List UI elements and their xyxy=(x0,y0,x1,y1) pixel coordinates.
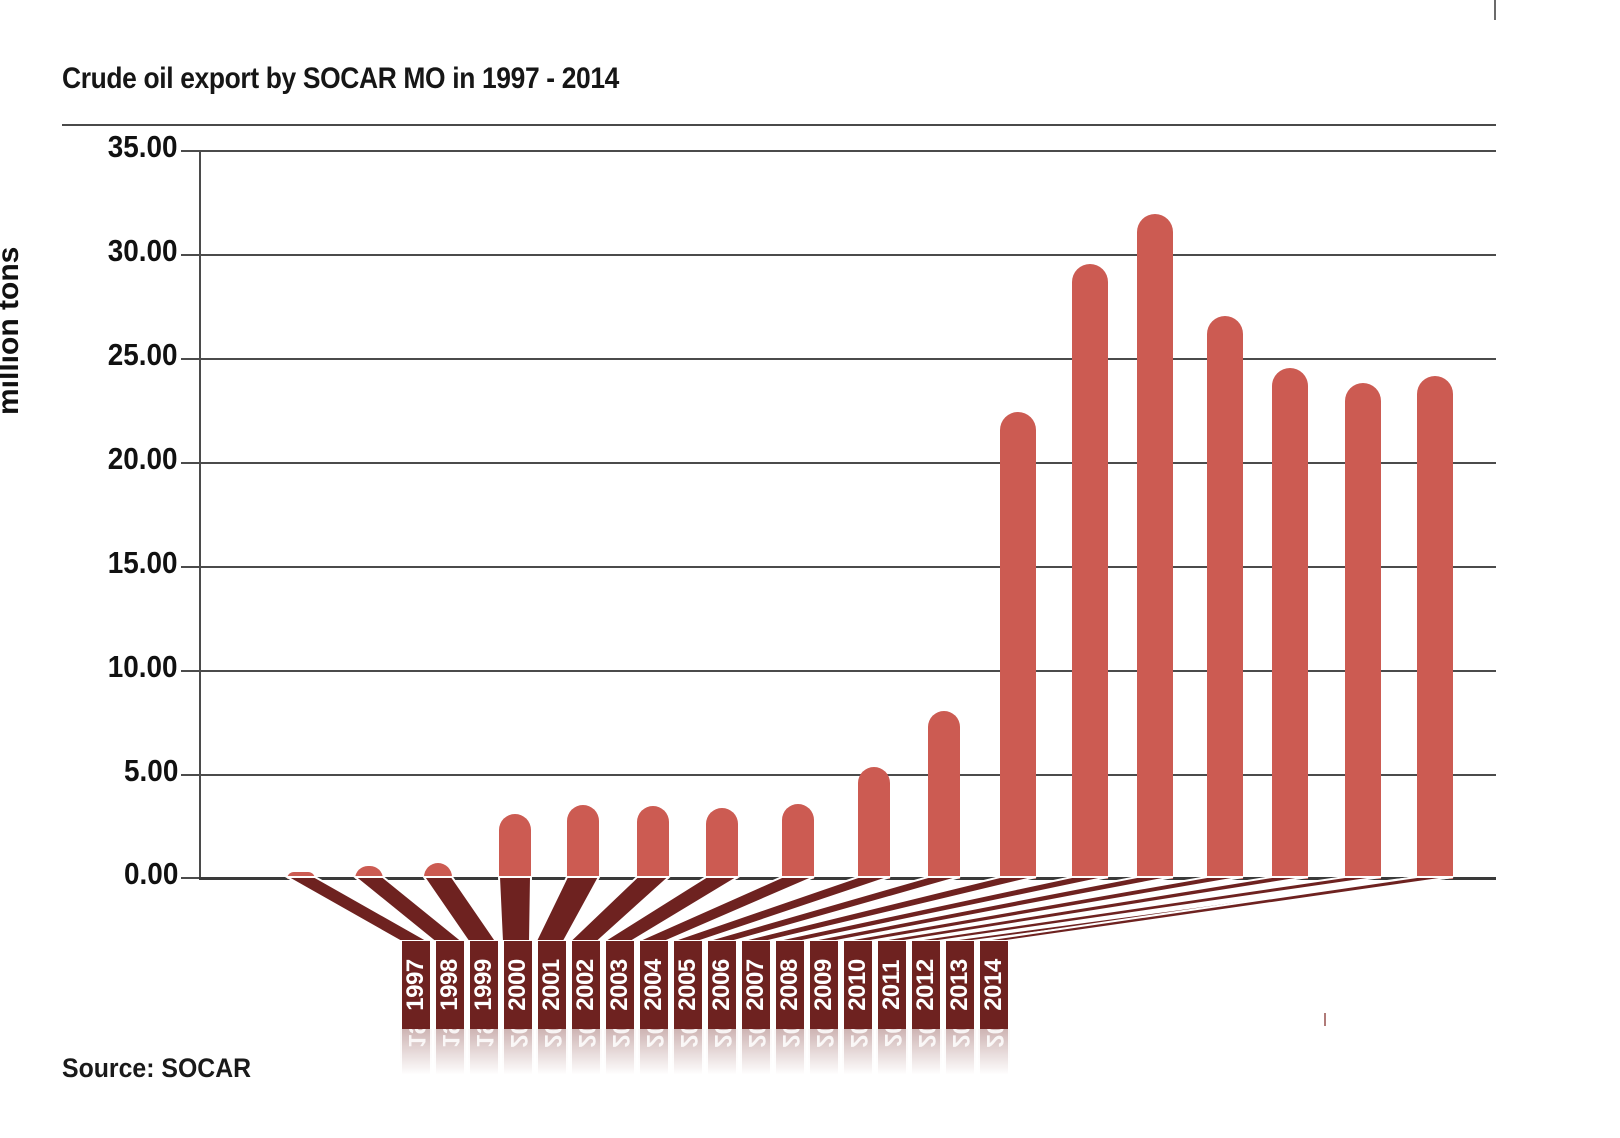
x-axis-label-text: 2014 xyxy=(980,959,1008,1010)
x-axis-label-reflection-box: 2010 xyxy=(842,1029,874,1075)
x-axis-label-box: 2005 xyxy=(672,941,704,1029)
x-axis-label-box: 1999 xyxy=(468,941,500,1029)
x-axis-label-box: 2001 xyxy=(536,941,568,1029)
bar xyxy=(1345,383,1381,879)
y-tick-label: 35.00 xyxy=(108,129,178,165)
x-axis-label-text: 2010 xyxy=(844,959,872,1010)
bar xyxy=(1417,376,1453,879)
title-divider xyxy=(62,124,1496,126)
y-tick-label: 25.00 xyxy=(108,337,178,373)
bar xyxy=(1207,316,1243,879)
x-axis-label-box: 2004 xyxy=(638,941,670,1029)
x-axis-label-reflection-text: 2011 xyxy=(878,1029,906,1047)
x-axis-label-reflection-box: 2012 xyxy=(910,1029,942,1075)
x-axis-label-reflection-box: 1998 xyxy=(434,1029,466,1075)
source-note: Source: SOCAR xyxy=(62,1053,251,1084)
x-axis-label-text: 2011 xyxy=(878,960,906,1010)
bar xyxy=(928,711,960,879)
x-axis-label-text: 2005 xyxy=(674,959,702,1010)
x-axis-label-reflection-text: 2009 xyxy=(810,1029,838,1048)
x-axis-label-reflection-box: 2011 xyxy=(876,1029,908,1075)
y-tick-mark xyxy=(181,358,199,360)
y-tick-mark xyxy=(181,566,199,568)
x-axis-label-text: 1998 xyxy=(436,959,464,1010)
y-tick-label: 10.00 xyxy=(108,649,178,685)
y-tick-label: 20.00 xyxy=(108,441,178,477)
x-axis-label-text: 1997 xyxy=(402,959,430,1010)
bar xyxy=(1072,264,1108,879)
y-tick-mark xyxy=(181,462,199,464)
x-axis-label-reflection-text: 2013 xyxy=(946,1029,974,1048)
x-axis-label-reflection-text: 2003 xyxy=(606,1029,634,1048)
x-axis-label-boxes: 1997199819992000200120022003200420052006… xyxy=(0,941,1620,1033)
x-axis-label-box: 2013 xyxy=(944,941,976,1029)
x-axis-label-text: 2008 xyxy=(776,959,804,1010)
x-axis-label-reflection-box: 2008 xyxy=(774,1029,806,1075)
x-axis-label-box: 2012 xyxy=(910,941,942,1029)
x-axis-label-reflection-box: 1997 xyxy=(400,1029,432,1075)
x-axis-label-reflection-text: 1997 xyxy=(402,1029,430,1048)
x-axis-label-reflection-box: 2003 xyxy=(604,1029,636,1075)
x-axis-label-reflection-box: 2002 xyxy=(570,1029,602,1075)
x-axis-label-reflection-text: 2012 xyxy=(912,1029,940,1048)
bar xyxy=(1137,214,1173,879)
x-axis-label-text: 1999 xyxy=(470,959,498,1010)
x-axis-label-reflection-text: 2008 xyxy=(776,1029,804,1048)
x-axis-label-box: 2008 xyxy=(774,941,806,1029)
x-axis-label-reflection-box: 2013 xyxy=(944,1029,976,1075)
x-axis-label-box: 2014 xyxy=(978,941,1010,1029)
x-axis-label-reflection-text: 2005 xyxy=(674,1029,702,1048)
registration-mark-top xyxy=(1494,0,1496,20)
x-axis-label-reflection-box: 2001 xyxy=(536,1029,568,1075)
x-axis-label-text: 2000 xyxy=(504,959,532,1010)
x-axis-label-text: 2013 xyxy=(946,959,974,1010)
y-tick-label: 15.00 xyxy=(108,545,178,581)
x-axis-label-reflection-box: 2004 xyxy=(638,1029,670,1075)
y-tick-mark xyxy=(181,150,199,152)
x-axis-label-reflection-text: 2010 xyxy=(844,1029,872,1048)
x-axis-label-box: 2006 xyxy=(706,941,738,1029)
y-tick-mark xyxy=(181,670,199,672)
x-axis-label-reflection-text: 2000 xyxy=(504,1029,532,1048)
x-axis-label-box: 2002 xyxy=(570,941,602,1029)
x-axis-label-reflection-text: 2001 xyxy=(538,1029,566,1048)
x-axis-label-reflection-text: 2004 xyxy=(640,1029,668,1048)
x-axis-label-text: 2012 xyxy=(912,959,940,1010)
x-axis-label-reflection-text: 2007 xyxy=(742,1029,770,1048)
x-axis-label-reflection-text: 2006 xyxy=(708,1029,736,1048)
x-axis-label-reflection-box: 1999 xyxy=(468,1029,500,1075)
x-axis-label-text: 2009 xyxy=(810,959,838,1010)
x-axis-label-reflection-text: 2002 xyxy=(572,1029,600,1048)
x-axis-label-text: 2007 xyxy=(742,959,770,1010)
x-axis-label-box: 2007 xyxy=(740,941,772,1029)
x-axis-label-reflection-box: 2009 xyxy=(808,1029,840,1075)
x-axis-label-text: 2002 xyxy=(572,959,600,1010)
x-axis-label-reflection-box: 2007 xyxy=(740,1029,772,1075)
x-axis-label-reflection-text: 2014 xyxy=(980,1029,1008,1048)
bar xyxy=(1000,412,1036,879)
bar xyxy=(1272,368,1308,879)
y-tick-label: 30.00 xyxy=(108,233,178,269)
x-axis-label-box: 2003 xyxy=(604,941,636,1029)
x-axis-label-reflection-box: 2014 xyxy=(978,1029,1010,1075)
x-axis-label-reflection-box: 2005 xyxy=(672,1029,704,1075)
x-axis-label-box: 1997 xyxy=(400,941,432,1029)
x-axis-label-reflection-box: 2006 xyxy=(706,1029,738,1075)
x-axis-label-text: 2001 xyxy=(538,959,566,1010)
x-axis-label-box: 2010 xyxy=(842,941,874,1029)
x-axis-label-text: 2003 xyxy=(606,959,634,1010)
x-axis-label-box: 1998 xyxy=(434,941,466,1029)
x-axis-label-reflection-box: 2000 xyxy=(502,1029,534,1075)
x-axis-label-box: 2009 xyxy=(808,941,840,1029)
bar-series xyxy=(199,150,1496,879)
x-axis-label-text: 2004 xyxy=(640,959,668,1010)
x-axis-label-reflection-text: 1998 xyxy=(436,1029,464,1048)
y-tick-mark xyxy=(181,254,199,256)
x-axis-label-text: 2006 xyxy=(708,959,736,1010)
x-axis-label-reflection-text: 1999 xyxy=(470,1029,498,1048)
y-tick-label: 5.00 xyxy=(124,753,178,789)
x-axis-label-box: 2000 xyxy=(502,941,534,1029)
y-tick-mark xyxy=(181,774,199,776)
x-axis-label-box: 2011 xyxy=(876,941,908,1029)
label-connector xyxy=(499,877,531,941)
